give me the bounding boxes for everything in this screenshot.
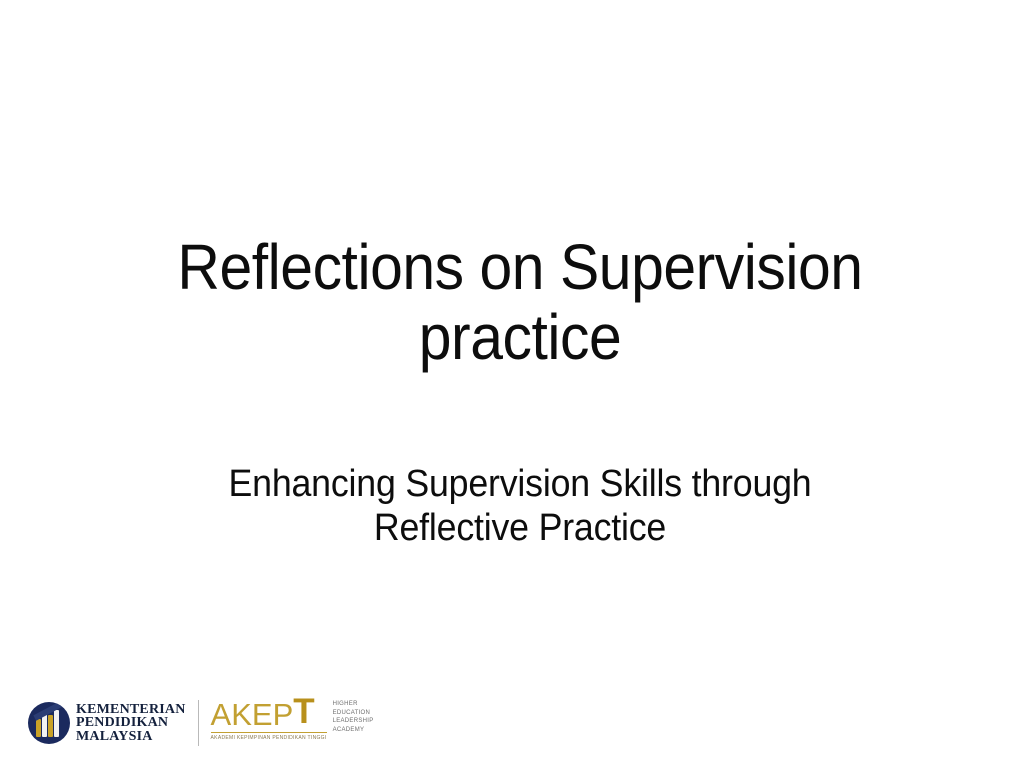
akept-side-line-3: LEADERSHIP (333, 717, 374, 726)
akept-letters-akep: AKEP (211, 697, 294, 732)
kpm-emblem-icon (28, 702, 70, 744)
logo-divider (198, 700, 199, 746)
akept-side-line-2: EDUCATION (333, 709, 374, 718)
akept-wordmark: AKEPT AKADEMI KEPIMPINAN PENDIDIKAN TING… (211, 696, 327, 742)
akept-side-line-4: ACADEMY (333, 726, 374, 735)
kpm-word-1: KEMENTERIAN (76, 703, 186, 717)
slide-subtitle: Enhancing Supervision Skills through Ref… (120, 462, 920, 550)
subtitle-line-2: Reflective Practice (144, 506, 896, 550)
slide-title: Reflections on Supervision practice (120, 232, 920, 372)
akept-side-text: HIGHER EDUCATION LEADERSHIP ACADEMY (333, 696, 374, 734)
akept-underline (211, 732, 327, 733)
presentation-slide: Reflections on Supervision practice Enha… (0, 0, 1024, 768)
akept-letter-t: T (293, 692, 314, 731)
akept-wordmark-text: AKEPT (211, 698, 327, 730)
akept-tagline: AKADEMI KEPIMPINAN PENDIDIKAN TINGGI (211, 735, 327, 742)
akept-logo: AKEPT AKADEMI KEPIMPINAN PENDIDIKAN TING… (211, 696, 374, 750)
kpm-word-2: PENDIDIKAN (76, 716, 186, 730)
kementerian-pendidikan-malaysia-logo: KEMENTERIAN PENDIDIKAN MALAYSIA (28, 695, 186, 751)
subtitle-line-1: Enhancing Supervision Skills through (144, 462, 896, 506)
kpm-wordmark: KEMENTERIAN PENDIDIKAN MALAYSIA (76, 703, 186, 744)
akept-side-line-1: HIGHER (333, 700, 374, 709)
kpm-word-3: MALAYSIA (76, 730, 186, 744)
footer-logo-band: KEMENTERIAN PENDIDIKAN MALAYSIA AKEPT AK… (28, 692, 318, 754)
title-line-1: Reflections on Supervision (152, 232, 888, 302)
title-line-2: practice (152, 302, 888, 372)
